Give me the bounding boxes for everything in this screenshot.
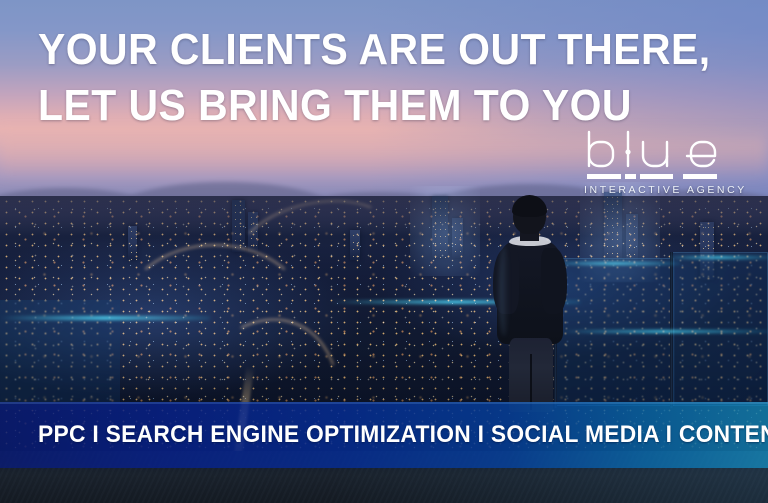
figure-hair (512, 195, 547, 217)
headline: YOUR CLIENTS ARE OUT THERE, LET US BRING… (38, 22, 711, 134)
businessman-figure (487, 196, 573, 411)
figure-shoulder (541, 248, 567, 314)
railing-edge-glow (0, 316, 210, 320)
services-banner-text: PPC I SEARCH ENGINE OPTIMIZATION I SOCIA… (38, 418, 768, 452)
headline-line-1: YOUR CLIENTS ARE OUT THERE, (38, 22, 711, 78)
headline-line-2: LET US BRING THEM TO YOU (38, 78, 711, 134)
logo-tagline: INTERACTIVE AGENCY (584, 184, 747, 196)
blue-interactive-agency-logo[interactable]: INTERACTIVE AGENCY (583, 130, 733, 192)
services-banner-top-edge (0, 402, 768, 404)
railing-edge-glow (560, 330, 768, 333)
glass-railing-panel (672, 252, 768, 406)
hero-banner-ad: YOUR CLIENTS ARE OUT THERE, LET US BRING… (0, 0, 768, 503)
figure-rim-light (499, 246, 509, 336)
railing-edge-glow (666, 256, 768, 259)
logo-wordmark (583, 130, 733, 174)
logo-blue-letters-icon (583, 130, 733, 174)
logo-underline-bars (583, 174, 733, 182)
